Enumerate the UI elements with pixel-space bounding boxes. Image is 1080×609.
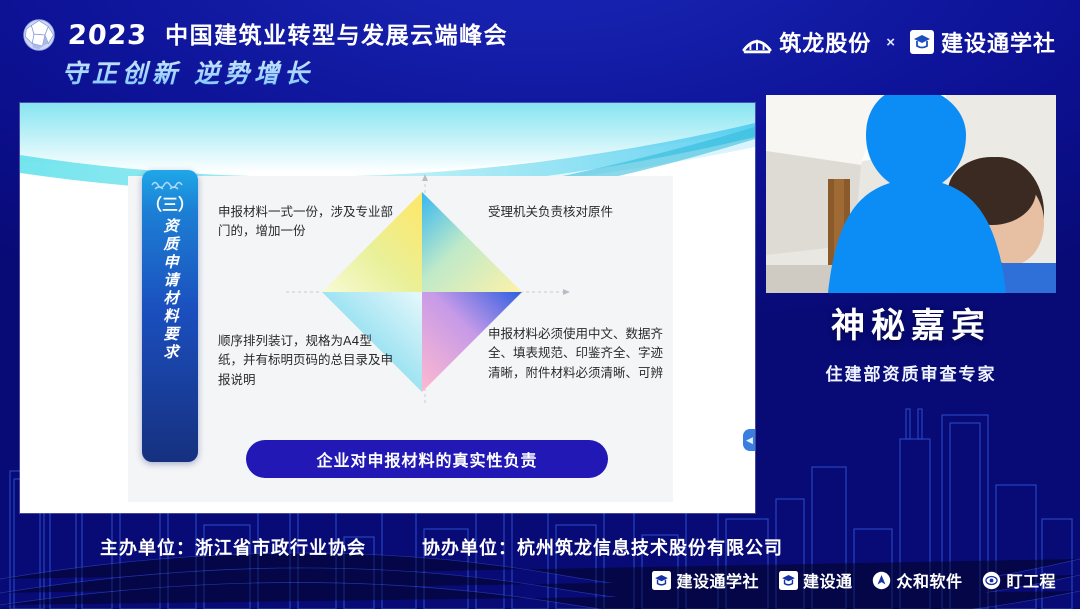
- sponsor-name: 筑龙股份: [779, 26, 871, 58]
- partner-dinggongcheng: 盯工程: [982, 568, 1056, 592]
- section-number: （三）: [146, 197, 194, 215]
- event-branding: 2023 中国建筑业转型与发展云端峰会: [22, 18, 508, 52]
- sponsor-zhulong: 筑龙股份: [742, 26, 871, 58]
- partner-jianshetongxueshe: 建设通学社: [652, 568, 759, 592]
- header: 2023 中国建筑业转型与发展云端峰会 守正创新 逆势增长 筑龙股份 × 建设通…: [0, 0, 1080, 100]
- sponsor-logos: 筑龙股份 × 建设通学社: [742, 26, 1056, 58]
- sponsor-jianshetong: 建设通学社: [910, 26, 1056, 58]
- organizer-coorg: 协办单位：杭州筑龙信息技术股份有限公司: [422, 534, 783, 560]
- chevron-left-icon[interactable]: ◀: [743, 429, 755, 451]
- graduation-cap-icon: [652, 571, 671, 590]
- faceted-globe-icon: [22, 18, 56, 52]
- organizer-line: 主办单位：浙江省市政行业协会 协办单位：杭州筑龙信息技术股份有限公司: [0, 533, 1080, 561]
- guest-role: 住建部资质审查专家: [766, 360, 1056, 385]
- section-title: 资质申请材料要求: [160, 218, 181, 362]
- sponsor-separator: ×: [884, 34, 897, 51]
- graduation-cap-icon: [779, 571, 798, 590]
- partner-jianshetong: 建设通: [779, 568, 853, 592]
- partner-name: 建设通学社: [676, 568, 759, 592]
- scroll-ornament-icon: [148, 177, 192, 193]
- presentation-slide[interactable]: （三） 资质申请材料要求: [20, 103, 755, 513]
- sponsor-name: 建设通学社: [941, 26, 1056, 58]
- guest-name: 神秘嘉宾: [766, 298, 1056, 347]
- eye-circle-icon: [982, 571, 1001, 590]
- slide-banner: 企业对申报材料的真实性负责: [246, 440, 608, 478]
- bridge-icon: [742, 31, 772, 54]
- slide-content-area: （三） 资质申请材料要求: [128, 176, 673, 502]
- event-year: 2023: [67, 22, 148, 49]
- quadrant-text-bottom-right: 申报材料必须使用中文、数据齐全、填表规范、印鉴齐全、字迹清晰，附件材料必须清晰、…: [488, 324, 668, 382]
- partner-name: 建设通: [803, 568, 853, 592]
- partner-name: 盯工程: [1006, 568, 1056, 592]
- event-title: 中国建筑业转型与发展云端峰会: [165, 24, 508, 47]
- partner-zhonghe: 众和软件: [872, 568, 962, 592]
- section-tab: （三） 资质申请材料要求: [142, 170, 198, 462]
- guest-webcam-feed[interactable]: [766, 95, 1056, 293]
- person-silhouette-icon: [766, 95, 1056, 293]
- partner-logos: 建设通学社 建设通 众和软件 盯工程: [652, 565, 1056, 595]
- quadrant-text-top-right: 受理机关负责核对原件: [488, 202, 688, 221]
- graduation-cap-icon: [910, 30, 934, 54]
- quadrant-text-bottom-left: 顺序排列装订，规格为A4型纸，并有标明页码的总目录及申报说明: [218, 331, 393, 389]
- quadrant-text-top-left: 申报材料一式一份，涉及专业部门的，增加一份: [218, 202, 393, 241]
- partner-name: 众和软件: [896, 568, 962, 592]
- organizer-host: 主办单位：浙江省市政行业协会: [100, 534, 366, 560]
- zhonghe-circle-icon: [872, 571, 891, 590]
- event-slogan: 守正创新 逆势增长: [62, 54, 314, 90]
